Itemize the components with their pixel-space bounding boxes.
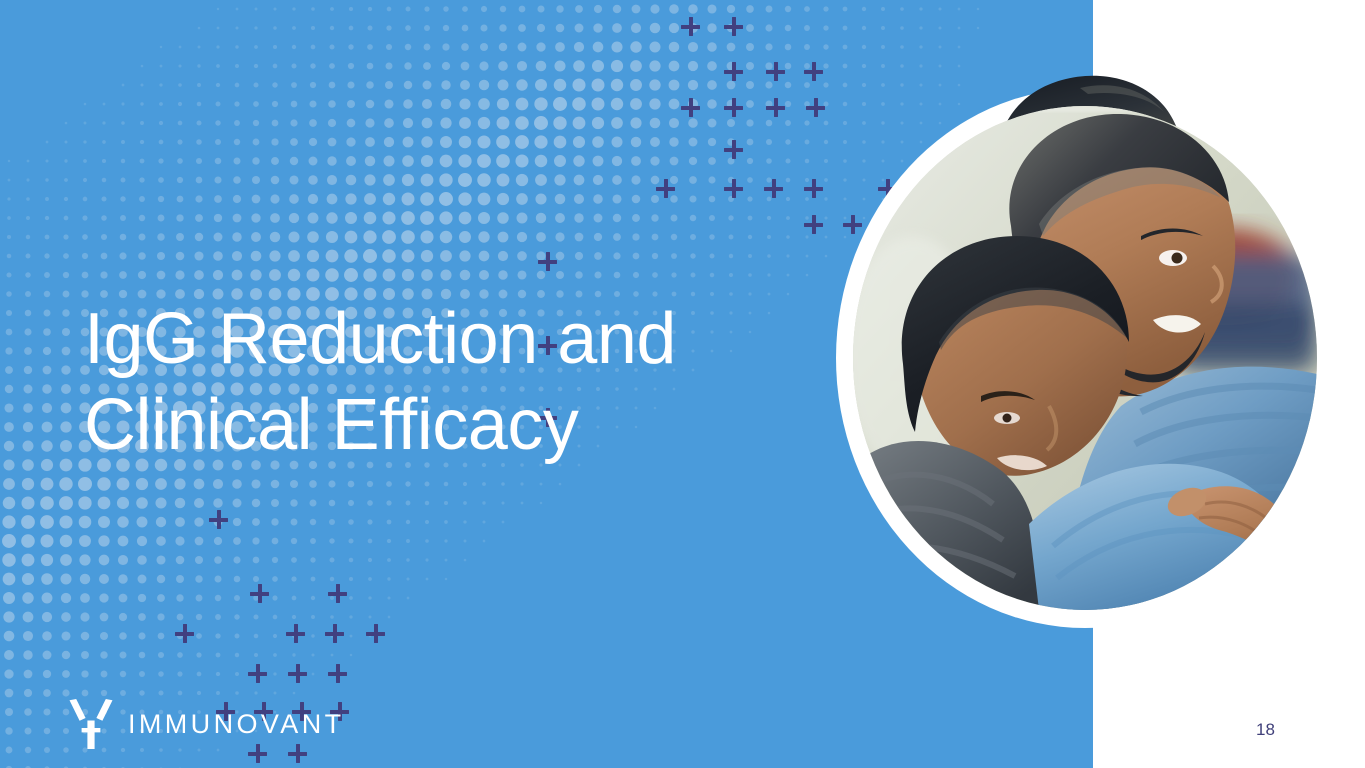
plus-mark — [764, 179, 783, 198]
plus-mark — [724, 98, 743, 117]
plus-mark — [766, 62, 785, 81]
plus-mark — [656, 179, 675, 198]
plus-mark — [366, 624, 385, 643]
plus-mark — [724, 62, 743, 81]
plus-mark — [766, 98, 785, 117]
plus-mark — [209, 510, 228, 529]
plus-mark — [724, 140, 743, 159]
immunovant-logo[interactable]: IMMUNOVANT — [66, 698, 345, 750]
plus-mark — [681, 98, 700, 117]
hero-photo — [836, 88, 1334, 628]
antibody-icon — [66, 698, 116, 750]
plus-mark — [724, 17, 743, 36]
plus-mark — [804, 179, 823, 198]
plus-mark — [328, 584, 347, 603]
plus-mark — [724, 179, 743, 198]
plus-mark — [538, 252, 557, 271]
page-title: IgG Reduction and Clinical Efficacy — [84, 296, 784, 468]
photo-circle-mask — [853, 106, 1317, 610]
plus-mark — [288, 664, 307, 683]
plus-mark — [250, 584, 269, 603]
logo-wordmark: IMMUNOVANT — [128, 711, 345, 738]
plus-mark — [286, 624, 305, 643]
slide: IgG Reduction and Clinical Efficacy — [0, 0, 1365, 768]
plus-mark — [325, 624, 344, 643]
plus-mark — [806, 98, 825, 117]
plus-mark — [248, 664, 267, 683]
plus-mark — [804, 215, 823, 234]
page-number: 18 — [1256, 720, 1275, 740]
plus-mark — [681, 17, 700, 36]
plus-mark — [804, 62, 823, 81]
plus-mark — [328, 664, 347, 683]
plus-mark — [175, 624, 194, 643]
